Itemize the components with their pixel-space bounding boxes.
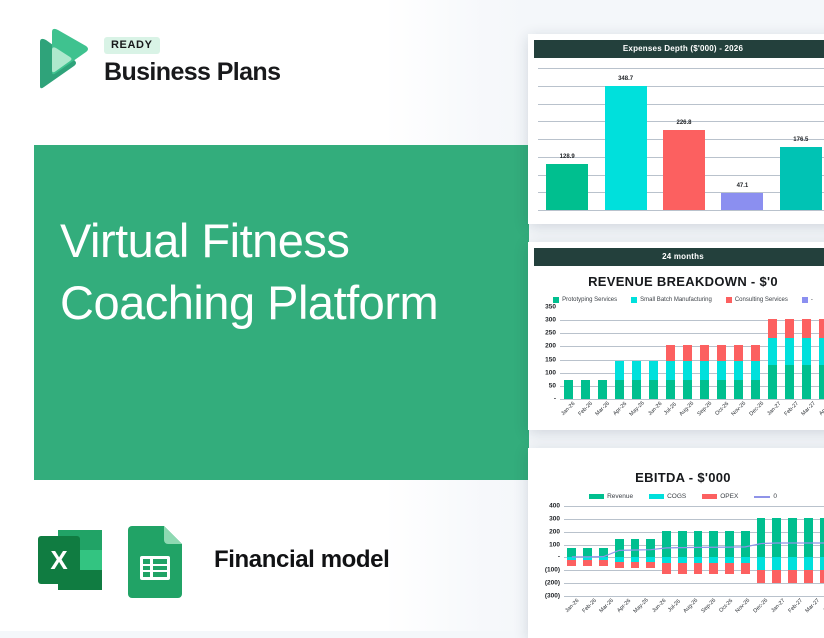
y-axis-tick: - bbox=[536, 554, 560, 561]
legend-swatch-icon bbox=[702, 494, 717, 499]
brand-text-block: READY Business Plans bbox=[104, 33, 280, 85]
bar-segment bbox=[751, 380, 760, 399]
x-axis-tick: Jun-26 bbox=[647, 401, 663, 417]
bar-value-label: 226.8 bbox=[676, 120, 691, 126]
ebitda-chart-title: EBITDA - $'000 bbox=[528, 470, 824, 485]
bar: 176.5 bbox=[780, 147, 822, 210]
bar-segment bbox=[581, 380, 590, 399]
legend-swatch-icon bbox=[631, 297, 637, 303]
bar-segment bbox=[819, 338, 824, 366]
y-axis-tick: 300 bbox=[536, 515, 560, 522]
x-axis-labels: Jan-26Feb-26Mar-26Apr-26May-26Jun-26Jul-… bbox=[560, 401, 824, 412]
brand-lockup: READY Business Plans bbox=[30, 28, 280, 90]
bar-segment bbox=[700, 361, 709, 380]
bar-segment bbox=[717, 361, 726, 380]
stacked-bar bbox=[649, 307, 658, 399]
legend-item: 0 bbox=[754, 493, 777, 500]
revenue-stacked-bar-plot: 35030025020015010050-Jan-26Feb-26Mar-26A… bbox=[536, 307, 824, 417]
bar-segment bbox=[785, 365, 794, 399]
bar-segment bbox=[649, 361, 658, 380]
stacked-bar bbox=[683, 307, 692, 399]
x-label-slot: Feb-27 bbox=[787, 598, 804, 609]
bar-segment bbox=[700, 380, 709, 399]
x-axis-tick: May-26 bbox=[633, 597, 650, 614]
bar-group: 128.9348.7226.847.1176.5 bbox=[538, 68, 824, 210]
bar-slot bbox=[798, 307, 815, 399]
bar-segment bbox=[785, 338, 794, 366]
bar-segment bbox=[564, 380, 573, 399]
x-label-slot: Nov-26 bbox=[734, 598, 752, 609]
x-label-slot: Dec-26 bbox=[748, 401, 766, 412]
bar-value-label: 128.9 bbox=[560, 154, 575, 160]
bar-segment bbox=[751, 361, 760, 380]
x-axis-tick: Feb-27 bbox=[783, 401, 800, 418]
x-axis-tick: Apr-27 bbox=[818, 401, 824, 417]
brand-title: Business Plans bbox=[104, 59, 280, 85]
expenses-bar-plot: 128.9348.7226.847.1176.5 bbox=[538, 68, 824, 210]
x-label-slot: Sep-26 bbox=[696, 401, 714, 412]
x-axis-tick: Feb-26 bbox=[577, 401, 594, 418]
bar-segment bbox=[751, 345, 760, 361]
hero-banner: Virtual Fitness Coaching Platform bbox=[34, 145, 529, 480]
bar: 348.7 bbox=[605, 86, 647, 210]
bar-segment bbox=[819, 365, 824, 399]
ebitda-bar-plot: 400300200100-(100)(200)(300)Jan-26Feb-26… bbox=[536, 506, 824, 622]
bar-segment bbox=[785, 319, 794, 338]
bar-segment bbox=[683, 345, 692, 361]
bar-segment bbox=[632, 361, 641, 380]
x-label-slot: Dec-26 bbox=[752, 598, 770, 609]
y-axis-tick: 150 bbox=[536, 356, 556, 363]
x-label-slot: Apr-26 bbox=[612, 401, 629, 412]
chart-card-ebitda[interactable]: EBITDA - $'000 RevenueCOGSOPEX0 40030020… bbox=[528, 448, 824, 638]
legend-swatch-icon bbox=[589, 494, 604, 499]
bar-slot bbox=[713, 307, 730, 399]
y-axis-tick: 250 bbox=[536, 330, 556, 337]
bar-slot bbox=[645, 307, 662, 399]
plot-inner: 35030025020015010050-Jan-26Feb-26Mar-26A… bbox=[560, 307, 824, 399]
x-axis-tick: Feb-27 bbox=[787, 598, 804, 615]
legend-item: COGS bbox=[649, 493, 686, 500]
bar-segment bbox=[734, 361, 743, 380]
x-axis-tick: Oct-26 bbox=[718, 598, 734, 614]
svg-text:X: X bbox=[50, 545, 68, 575]
bar-slot bbox=[696, 307, 713, 399]
x-label-slot: Apr-27 bbox=[818, 401, 824, 412]
bar-segment bbox=[768, 365, 777, 399]
x-label-slot: Feb-26 bbox=[577, 401, 594, 412]
x-label-slot: Mar-27 bbox=[800, 401, 817, 412]
x-axis-tick: May-26 bbox=[629, 400, 646, 417]
bar-slot bbox=[764, 307, 781, 399]
bar-value-label: 47.1 bbox=[737, 183, 749, 189]
x-label-slot: Jul-26 bbox=[663, 401, 678, 412]
y-axis-tick: 400 bbox=[536, 503, 560, 510]
bar-slot bbox=[628, 307, 645, 399]
stacked-bar bbox=[564, 307, 573, 399]
bar-segment bbox=[717, 345, 726, 361]
bar-slot: 226.8 bbox=[655, 68, 713, 210]
legend-swatch-icon bbox=[802, 297, 808, 303]
chart-card-expenses[interactable]: Expenses Depth ($'000) - 2026 128.9348.7… bbox=[528, 34, 824, 224]
x-label-slot: May-26 bbox=[632, 598, 650, 609]
stacked-bar bbox=[598, 307, 607, 399]
bar: 226.8 bbox=[663, 130, 705, 211]
bar-segment bbox=[666, 361, 675, 380]
legend-swatch-icon bbox=[649, 494, 664, 499]
bar-slot: 348.7 bbox=[596, 68, 654, 210]
x-label-slot: Jan-27 bbox=[766, 401, 783, 412]
bar: 47.1 bbox=[721, 193, 763, 210]
bar-segment bbox=[734, 380, 743, 399]
bar-slot bbox=[611, 307, 628, 399]
stacked-bar bbox=[751, 307, 760, 399]
legend-label: - bbox=[811, 297, 813, 303]
x-axis-labels: Jan-26Feb-26Mar-26Apr-26May-26Jun-26Jul-… bbox=[564, 598, 824, 609]
stacked-bar bbox=[785, 307, 794, 399]
legend-swatch-icon bbox=[726, 297, 732, 303]
chart-card-revenue[interactable]: 24 months REVENUE BREAKDOWN - $'0 Protot… bbox=[528, 242, 824, 430]
stacked-bar bbox=[615, 307, 624, 399]
bar-segment bbox=[802, 319, 811, 338]
ready-badge: READY bbox=[104, 37, 160, 54]
x-axis-tick: Apr-26 bbox=[612, 401, 628, 417]
x-label-slot: Aug-26 bbox=[682, 598, 700, 609]
x-axis-tick: Nov-26 bbox=[735, 598, 752, 615]
bar-segment bbox=[683, 380, 692, 399]
x-axis-tick: Nov-26 bbox=[731, 401, 748, 418]
x-label-slot: Feb-27 bbox=[783, 401, 800, 412]
legend-item: Revenue bbox=[589, 493, 633, 500]
x-axis-tick: Mar-26 bbox=[595, 401, 612, 418]
bar-segment bbox=[802, 365, 811, 399]
y-axis-tick: 200 bbox=[536, 343, 556, 350]
stacked-bar bbox=[581, 307, 590, 399]
legend-label: COGS bbox=[667, 493, 686, 500]
bar-value-label: 176.5 bbox=[793, 137, 808, 143]
bar-slot: 176.5 bbox=[772, 68, 824, 210]
legend-label: Revenue bbox=[607, 493, 633, 500]
bar-segment bbox=[802, 338, 811, 366]
revenue-chart-title: REVENUE BREAKDOWN - $'0 bbox=[528, 274, 824, 289]
expenses-chart-header: Expenses Depth ($'000) - 2026 bbox=[534, 40, 824, 58]
y-axis-tick: 100 bbox=[536, 541, 560, 548]
bar-segment bbox=[819, 319, 824, 338]
x-axis-tick: Aug-26 bbox=[683, 598, 700, 615]
y-axis-tick: (300) bbox=[536, 593, 560, 600]
bar-segment bbox=[615, 380, 624, 399]
stacked-bar bbox=[632, 307, 641, 399]
bar-group bbox=[560, 307, 824, 399]
y-axis-tick: - bbox=[536, 396, 556, 403]
y-axis-tick: (200) bbox=[536, 580, 560, 587]
x-axis-tick: Jan-26 bbox=[564, 598, 580, 614]
bar-segment bbox=[683, 361, 692, 380]
x-axis-tick: Jul-26 bbox=[667, 599, 682, 614]
bar-segment bbox=[700, 345, 709, 361]
bar-slot bbox=[730, 307, 747, 399]
legend-label: 0 bbox=[773, 493, 777, 500]
x-label-slot: Oct-26 bbox=[714, 401, 731, 412]
bar: 128.9 bbox=[546, 164, 588, 210]
x-axis-tick: Aug-26 bbox=[679, 401, 696, 418]
x-axis-tick: Jul-26 bbox=[663, 402, 678, 417]
x-label-slot: Apr-26 bbox=[616, 598, 633, 609]
bar-slot: 128.9 bbox=[538, 68, 596, 210]
x-label-slot: Nov-26 bbox=[730, 401, 748, 412]
gridline bbox=[560, 399, 824, 400]
x-axis-tick: Jan-27 bbox=[766, 401, 782, 417]
footer-format-row: X Financial model bbox=[32, 521, 389, 599]
bar-segment bbox=[666, 380, 675, 399]
page-title: Virtual Fitness Coaching Platform bbox=[60, 210, 500, 334]
y-axis-tick: 350 bbox=[536, 304, 556, 311]
x-axis-tick: Jun-26 bbox=[651, 598, 667, 614]
x-axis-tick: Apr-26 bbox=[616, 598, 632, 614]
bar-value-label: 348.7 bbox=[618, 76, 633, 82]
bar-segment bbox=[717, 380, 726, 399]
x-label-slot: Mar-27 bbox=[804, 598, 821, 609]
financial-model-label: Financial model bbox=[214, 546, 389, 574]
bar-segment bbox=[734, 345, 743, 361]
x-axis-tick: Oct-26 bbox=[714, 401, 730, 417]
stacked-bar bbox=[700, 307, 709, 399]
x-axis-tick: Dec-26 bbox=[749, 401, 766, 418]
legend-item: Consulting Services bbox=[726, 297, 788, 303]
legend-label: Small Batch Manufacturing bbox=[640, 297, 712, 303]
x-label-slot: Mar-26 bbox=[594, 401, 611, 412]
stacked-bar bbox=[666, 307, 675, 399]
x-label-slot: May-26 bbox=[628, 401, 646, 412]
bar-segment bbox=[649, 380, 658, 399]
ebitda-chart-legend: RevenueCOGSOPEX0 bbox=[528, 493, 824, 500]
legend-swatch-icon bbox=[754, 496, 770, 498]
x-axis-tick: Mar-27 bbox=[801, 401, 818, 418]
bar-slot bbox=[560, 307, 577, 399]
y-axis-tick: (100) bbox=[536, 567, 560, 574]
google-sheets-icon bbox=[124, 522, 192, 598]
stacked-bar bbox=[802, 307, 811, 399]
bar-slot bbox=[679, 307, 696, 399]
y-axis-tick: 100 bbox=[536, 369, 556, 376]
bar-segment bbox=[632, 380, 641, 399]
stacked-bar bbox=[819, 307, 824, 399]
bar-slot bbox=[594, 307, 611, 399]
x-label-slot: Mar-26 bbox=[598, 598, 615, 609]
legend-label: Consulting Services bbox=[735, 297, 788, 303]
bar-segment bbox=[666, 345, 675, 361]
legend-item: OPEX bbox=[702, 493, 738, 500]
legend-label: Prototyping Services bbox=[562, 297, 617, 303]
microsoft-excel-icon: X bbox=[32, 522, 108, 598]
bar-slot: 47.1 bbox=[713, 68, 771, 210]
x-axis-tick: Mar-27 bbox=[805, 598, 822, 615]
x-label-slot: Jan-26 bbox=[560, 401, 577, 412]
bar-segment bbox=[598, 380, 607, 399]
legend-item: Small Batch Manufacturing bbox=[631, 297, 712, 303]
x-axis-tick: Sep-26 bbox=[697, 401, 714, 418]
bar-slot bbox=[781, 307, 798, 399]
revenue-chart-header: 24 months bbox=[534, 248, 824, 266]
x-label-slot: Feb-26 bbox=[581, 598, 598, 609]
x-axis-tick: Jan-26 bbox=[560, 401, 576, 417]
x-label-slot: Aug-26 bbox=[678, 401, 696, 412]
stacked-bar bbox=[734, 307, 743, 399]
revenue-chart-legend: Prototyping ServicesSmall Batch Manufact… bbox=[528, 297, 824, 303]
x-label-slot: Jan-26 bbox=[564, 598, 581, 609]
ebitda-zero-line bbox=[564, 506, 824, 596]
legend-item: Prototyping Services bbox=[553, 297, 617, 303]
bar-slot bbox=[815, 307, 824, 399]
x-axis-tick: Sep-26 bbox=[701, 598, 718, 615]
bar-segment bbox=[768, 338, 777, 366]
x-axis-tick: Dec-26 bbox=[753, 598, 770, 615]
y-axis-tick: 50 bbox=[536, 382, 556, 389]
plot-inner: 400300200100-(100)(200)(300)Jan-26Feb-26… bbox=[564, 506, 824, 596]
x-label-slot: Jun-26 bbox=[651, 598, 668, 609]
bar-slot bbox=[577, 307, 594, 399]
bar-slot bbox=[662, 307, 679, 399]
legend-label: OPEX bbox=[720, 493, 738, 500]
legend-item: - bbox=[802, 297, 813, 303]
y-axis-tick: 300 bbox=[536, 317, 556, 324]
x-label-slot: Sep-26 bbox=[700, 598, 718, 609]
x-label-slot: Oct-26 bbox=[718, 598, 735, 609]
x-label-slot: Jul-26 bbox=[667, 598, 682, 609]
bar-segment bbox=[768, 319, 777, 338]
gridline bbox=[538, 210, 824, 211]
x-axis-tick: Mar-26 bbox=[599, 598, 616, 615]
y-axis-tick: 200 bbox=[536, 528, 560, 535]
x-label-slot: Jun-26 bbox=[647, 401, 664, 412]
bar-segment bbox=[615, 361, 624, 380]
legend-swatch-icon bbox=[553, 297, 559, 303]
bar-slot bbox=[747, 307, 764, 399]
stacked-bar bbox=[717, 307, 726, 399]
x-axis-tick: Jan-27 bbox=[770, 598, 786, 614]
stacked-bar bbox=[768, 307, 777, 399]
x-axis-tick: Feb-26 bbox=[581, 598, 598, 615]
x-label-slot: Jan-27 bbox=[770, 598, 787, 609]
play-triangle-logo bbox=[30, 28, 90, 90]
